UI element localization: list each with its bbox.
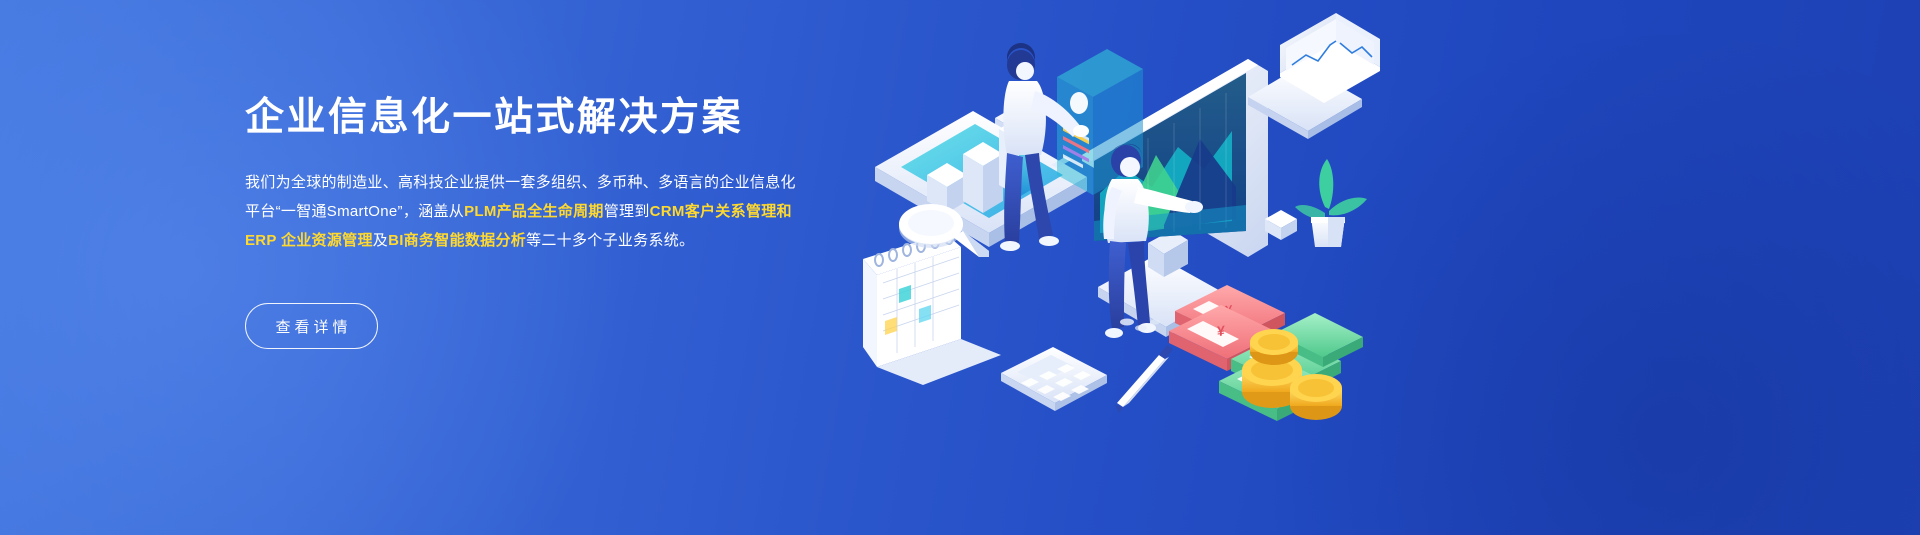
hero-content: 企业信息化一站式解决方案 我们为全球的制造业、高科技企业提供一套多组织、多币种、… (245, 0, 865, 535)
view-details-button[interactable]: 查看详情 (245, 303, 378, 349)
page-title: 企业信息化一站式解决方案 (245, 94, 743, 142)
svg-text:¥: ¥ (1217, 322, 1225, 339)
keyword-plm: PLM产品全生命周期 (464, 203, 604, 220)
description-line-2-pre: 平台“一智通SmartOne”，涵盖从 (245, 203, 464, 220)
description-line-1: 我们为全球的制造业、高科技企业提供一套多组织、多币种、多语言的企业信息化 (245, 174, 796, 191)
description-line-3-tail: 等二十多个子业务系统。 (526, 232, 694, 249)
description-line-2-mid: 管理到 (604, 203, 650, 220)
keyword-bi: BI商务智能数据分析 (388, 232, 526, 249)
hero-banner: 企业信息化一站式解决方案 我们为全球的制造业、高科技企业提供一套多组织、多币种、… (0, 0, 1920, 535)
pen (1115, 345, 1173, 413)
coin-single (1250, 329, 1298, 365)
potted-plant (1295, 159, 1367, 247)
hero-description: 我们为全球的制造业、高科技企业提供一套多组织、多币种、多语言的企业信息化平台“一… (245, 168, 805, 255)
bar-2 (963, 142, 1003, 213)
floating-cube-right (1265, 210, 1297, 240)
coin-stack-short (1290, 374, 1342, 420)
keyword-crm: CRM客户关系管理 (650, 203, 777, 220)
calculator (1001, 347, 1107, 411)
description-line-3-mid: 及 (373, 232, 388, 249)
hero-illustration: ¥ ¥ $ (845, 0, 1405, 535)
